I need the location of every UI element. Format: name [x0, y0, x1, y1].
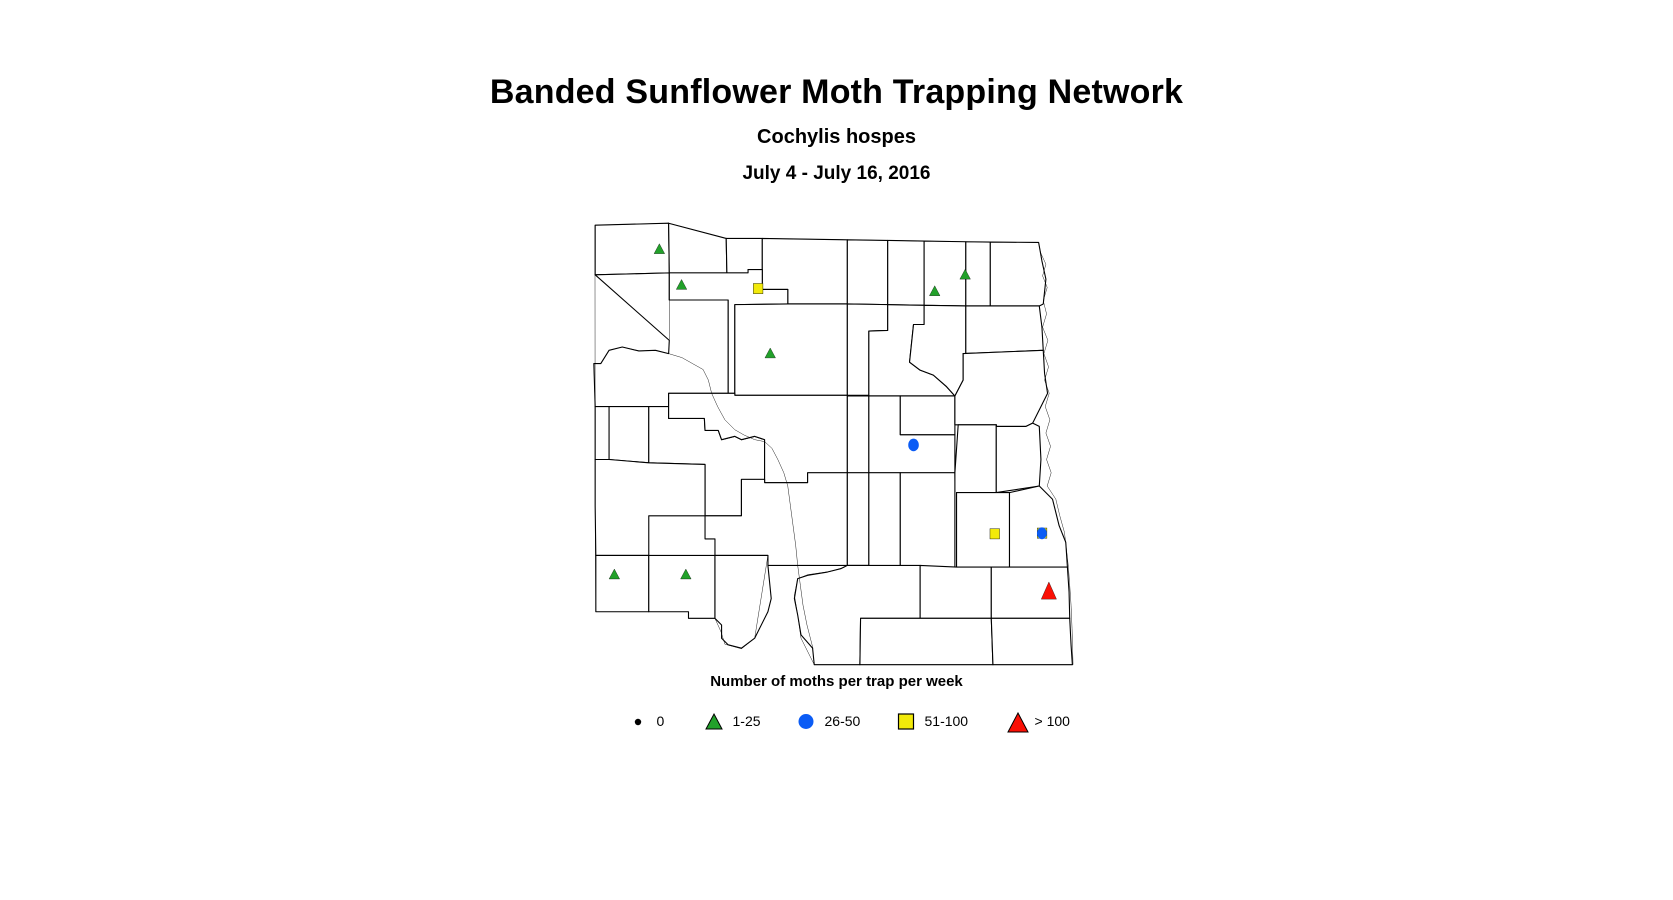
legend-label-over-100: > 100: [1035, 713, 1070, 729]
legend-title: Number of moths per trap per week: [0, 672, 1673, 692]
legend-item-0[interactable]: 0: [627, 706, 665, 736]
legend: Number of moths per trap per week 0 1-25…: [0, 672, 1673, 736]
map-svg: [455, 208, 1195, 668]
marker-square-51-100[interactable]: [753, 283, 763, 293]
legend-label-51-100: 51-100: [925, 713, 969, 729]
circle-icon: [795, 710, 817, 732]
map-page: Banded Sunflower Moth Trapping Network C…: [0, 0, 1673, 900]
legend-item-26-50[interactable]: 26-50: [795, 706, 861, 736]
page-title: Banded Sunflower Moth Trapping Network: [0, 72, 1673, 112]
triangle-icon: [703, 710, 725, 732]
legend-item-over-100[interactable]: > 100: [1005, 706, 1070, 736]
marker-square-51-100[interactable]: [990, 529, 1000, 539]
marker-circle-26-50[interactable]: [1037, 527, 1047, 539]
species-subtitle: Cochylis hospes: [0, 112, 1673, 150]
legend-label-1-25: 1-25: [733, 713, 761, 729]
triangle-icon: [1005, 710, 1027, 732]
legend-item-51-100[interactable]: 51-100: [895, 706, 969, 736]
date-range-label: July 4 - July 16, 2016: [0, 150, 1673, 187]
marker-circle-26-50[interactable]: [908, 439, 919, 452]
north-dakota-county-map[interactable]: [455, 208, 1195, 668]
legend-items-row: 0 1-25 26-50 51-100: [627, 706, 1047, 736]
legend-label-26-50: 26-50: [825, 713, 861, 729]
title-block: Banded Sunflower Moth Trapping Network C…: [0, 72, 1673, 187]
square-icon: [895, 710, 917, 732]
legend-label-0: 0: [657, 713, 665, 729]
dot-icon: [627, 710, 649, 732]
county-boundaries: [594, 223, 1073, 664]
legend-item-1-25[interactable]: 1-25: [703, 706, 761, 736]
